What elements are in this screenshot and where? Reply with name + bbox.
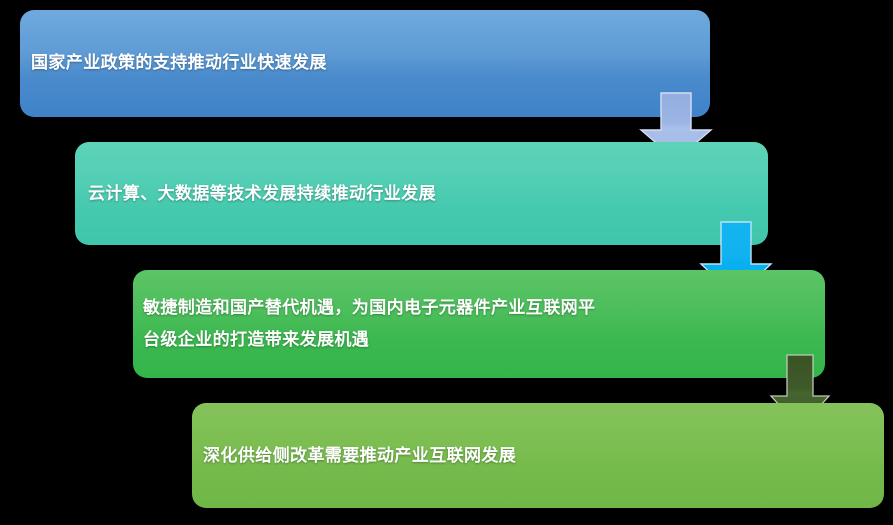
flow-step-manufacture-label: 敏捷制造和国产替代机遇，为国内电子元器件产业互联网平 台级企业的打造带来发展机遇 [143, 292, 595, 356]
flow-step-policy[interactable]: 国家产业政策的支持推动行业快速发展 [20, 10, 710, 117]
flow-step-supply-label: 深化供给侧改革需要推动产业互联网发展 [203, 440, 516, 471]
flow-step-policy-label: 国家产业政策的支持推动行业快速发展 [31, 47, 327, 80]
diagram-canvas: 国家产业政策的支持推动行业快速发展 云计算、大数据等技术发展持续推动行业发展 [0, 0, 893, 525]
flow-step-tech[interactable]: 云计算、大数据等技术发展持续推动行业发展 [75, 142, 768, 245]
flow-step-manufacture[interactable]: 敏捷制造和国产替代机遇，为国内电子元器件产业互联网平 台级企业的打造带来发展机遇 [133, 270, 825, 378]
flow-step-supply[interactable]: 深化供给侧改革需要推动产业互联网发展 [192, 403, 884, 508]
flow-step-tech-label: 云计算、大数据等技术发展持续推动行业发展 [88, 178, 436, 209]
